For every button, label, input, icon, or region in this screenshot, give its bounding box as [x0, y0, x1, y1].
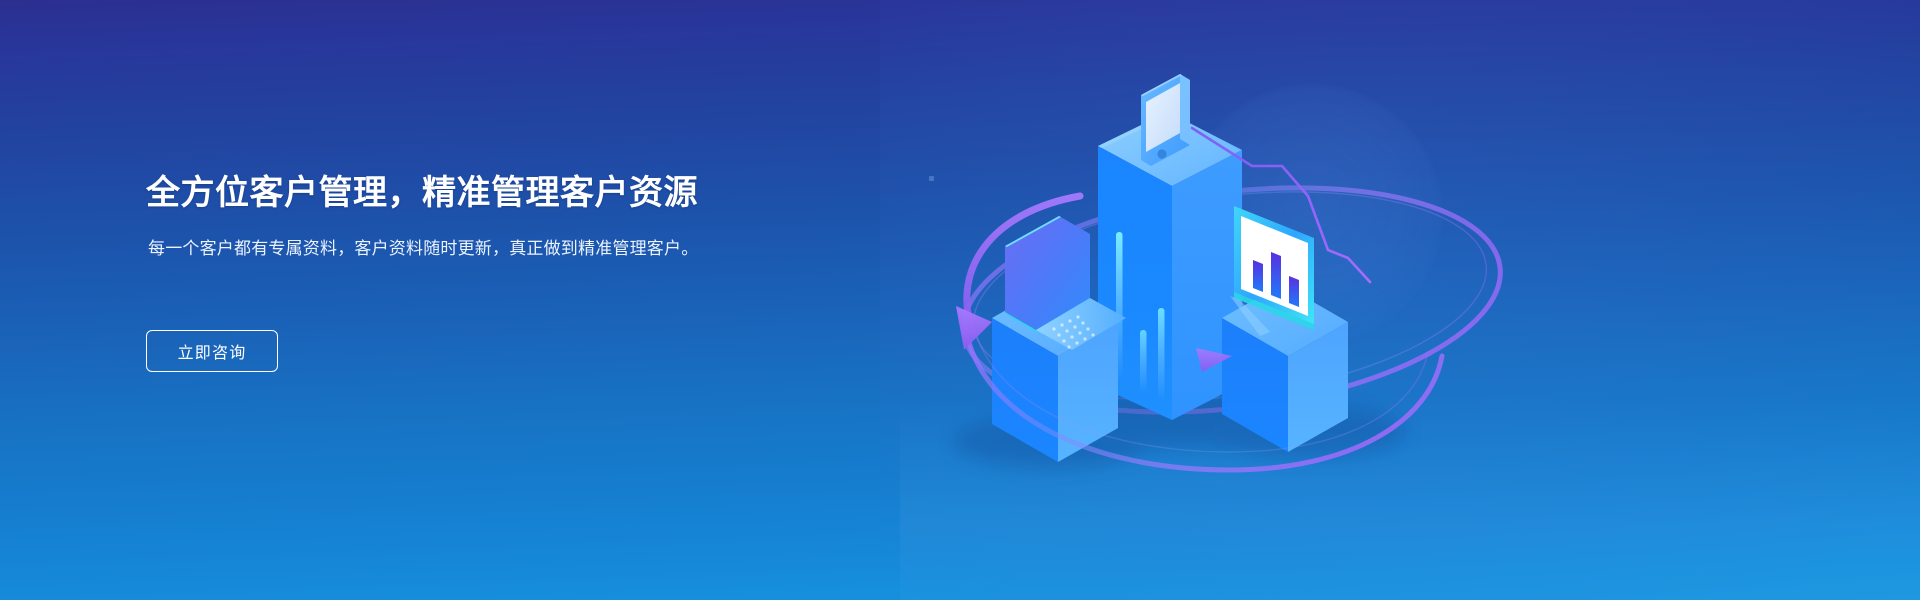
page-title: 全方位客户管理，精准管理客户资源	[146, 165, 698, 214]
hero-banner: 全方位客户管理，精准管理客户资源 每一个客户都有专属资料，客户资料随时更新，真正…	[0, 0, 1920, 600]
hero-subtitle: 每一个客户都有专属资料，客户资料随时更新，真正做到精准管理客户。	[148, 236, 734, 262]
hero-copy-block: 全方位客户管理，精准管理客户资源 每一个客户都有专属资料，客户资料随时更新，真正…	[146, 0, 806, 600]
center-tall-pillar	[1098, 112, 1242, 420]
hero-illustration	[930, 0, 1920, 600]
consult-now-button[interactable]: 立即咨询	[146, 330, 278, 372]
